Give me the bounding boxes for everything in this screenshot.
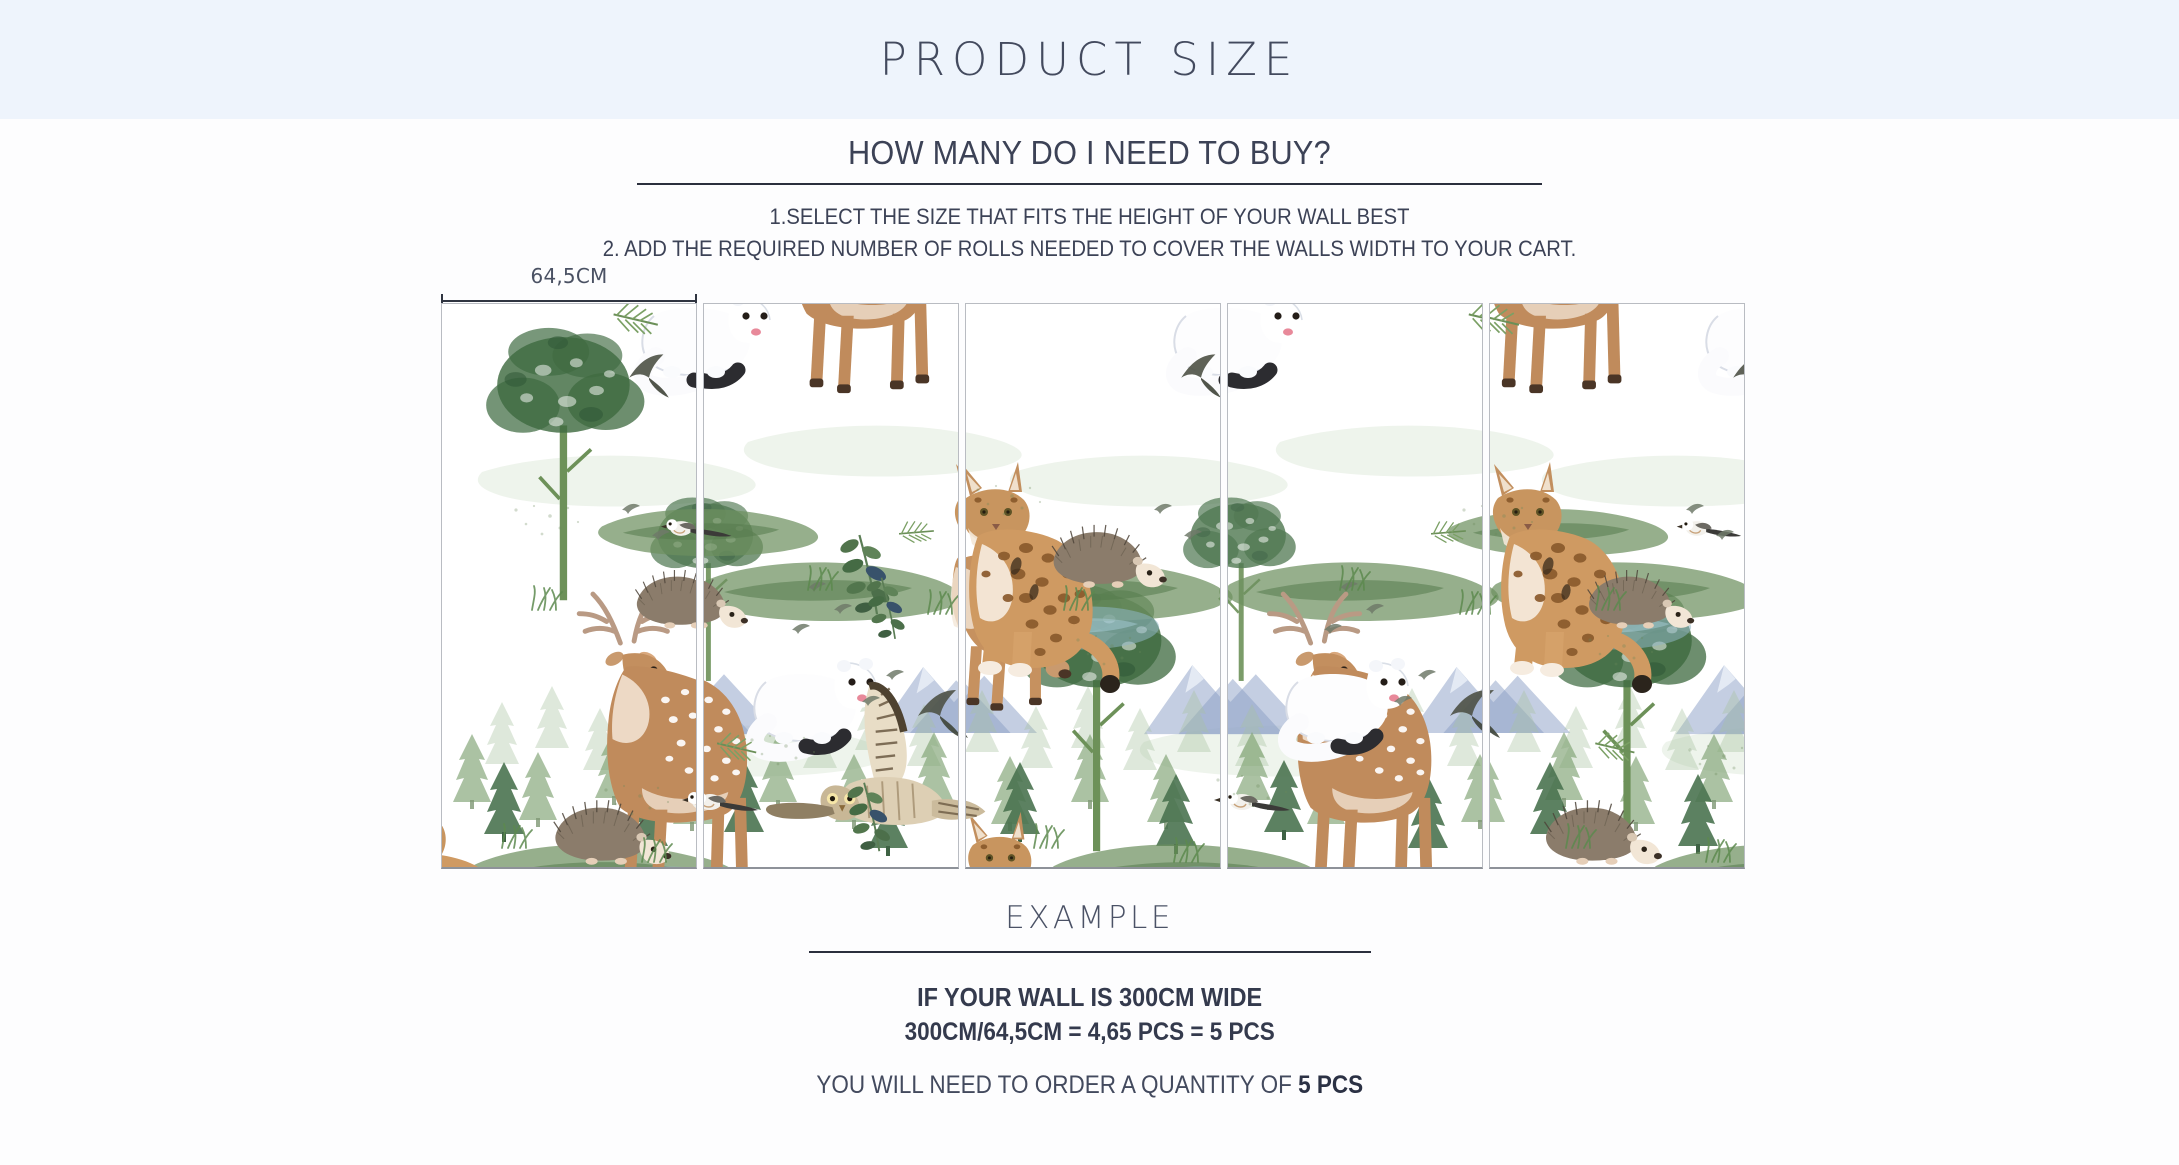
page-header-band: PRODUCT SIZE xyxy=(0,0,2179,119)
wallpaper-panel-4[interactable] xyxy=(1227,303,1483,869)
wallpaper-panel-strip xyxy=(441,303,1736,869)
wallpaper-panel-3[interactable] xyxy=(965,303,1221,869)
instructions-steps: 1.SELECT THE SIZE THAT FITS THE HEIGHT O… xyxy=(0,201,2179,265)
example-conclusion-prefix: YOU WILL NEED TO ORDER A QUANTITY OF xyxy=(816,1071,1298,1099)
example-wall-width-text: IF YOUR WALL IS 300CM WIDE xyxy=(917,982,1262,1013)
roll-width-label: 64,5CM xyxy=(441,264,697,288)
example-conclusion: YOU WILL NEED TO ORDER A QUANTITY OF 5 P… xyxy=(0,1071,2179,1100)
panel-5-artwork xyxy=(1489,304,1745,869)
example-section: EXAMPLE IF YOUR WALL IS 300CM WIDE 300CM… xyxy=(0,900,2179,1100)
instructions-section: HOW MANY DO I NEED TO BUY? 1.SELECT THE … xyxy=(0,119,2179,265)
panel-2-artwork xyxy=(703,304,959,869)
panel-3-artwork xyxy=(965,304,1221,869)
page-title: PRODUCT SIZE xyxy=(880,33,1300,86)
instructions-divider xyxy=(637,183,1542,185)
dimension-bar xyxy=(441,300,697,302)
panel-1-artwork xyxy=(442,304,697,869)
instruction-step-1: 1.SELECT THE SIZE THAT FITS THE HEIGHT O… xyxy=(87,201,2092,233)
example-calculation-text: 300CM/64,5CM = 4,65 PCS = 5 PCS xyxy=(904,1018,1274,1047)
wallpaper-panel-2[interactable] xyxy=(703,303,959,869)
instruction-step-2: 2. ADD THE REQUIRED NUMBER OF ROLLS NEED… xyxy=(87,233,2092,265)
example-wall-width: IF YOUR WALL IS 300CM WIDE xyxy=(0,982,2179,1013)
panel-4-artwork xyxy=(1227,304,1483,869)
roll-width-dimension: 64,5CM xyxy=(441,264,697,306)
wallpaper-panel-5[interactable] xyxy=(1489,303,1745,869)
example-divider xyxy=(809,951,1371,953)
example-calculation: 300CM/64,5CM = 4,65 PCS = 5 PCS xyxy=(0,1018,2179,1047)
example-title: EXAMPLE xyxy=(0,900,2179,936)
wallpaper-panel-1[interactable] xyxy=(441,303,697,869)
instructions-heading: HOW MANY DO I NEED TO BUY? xyxy=(76,134,2102,172)
example-conclusion-quantity: 5 PCS xyxy=(1298,1071,1363,1099)
